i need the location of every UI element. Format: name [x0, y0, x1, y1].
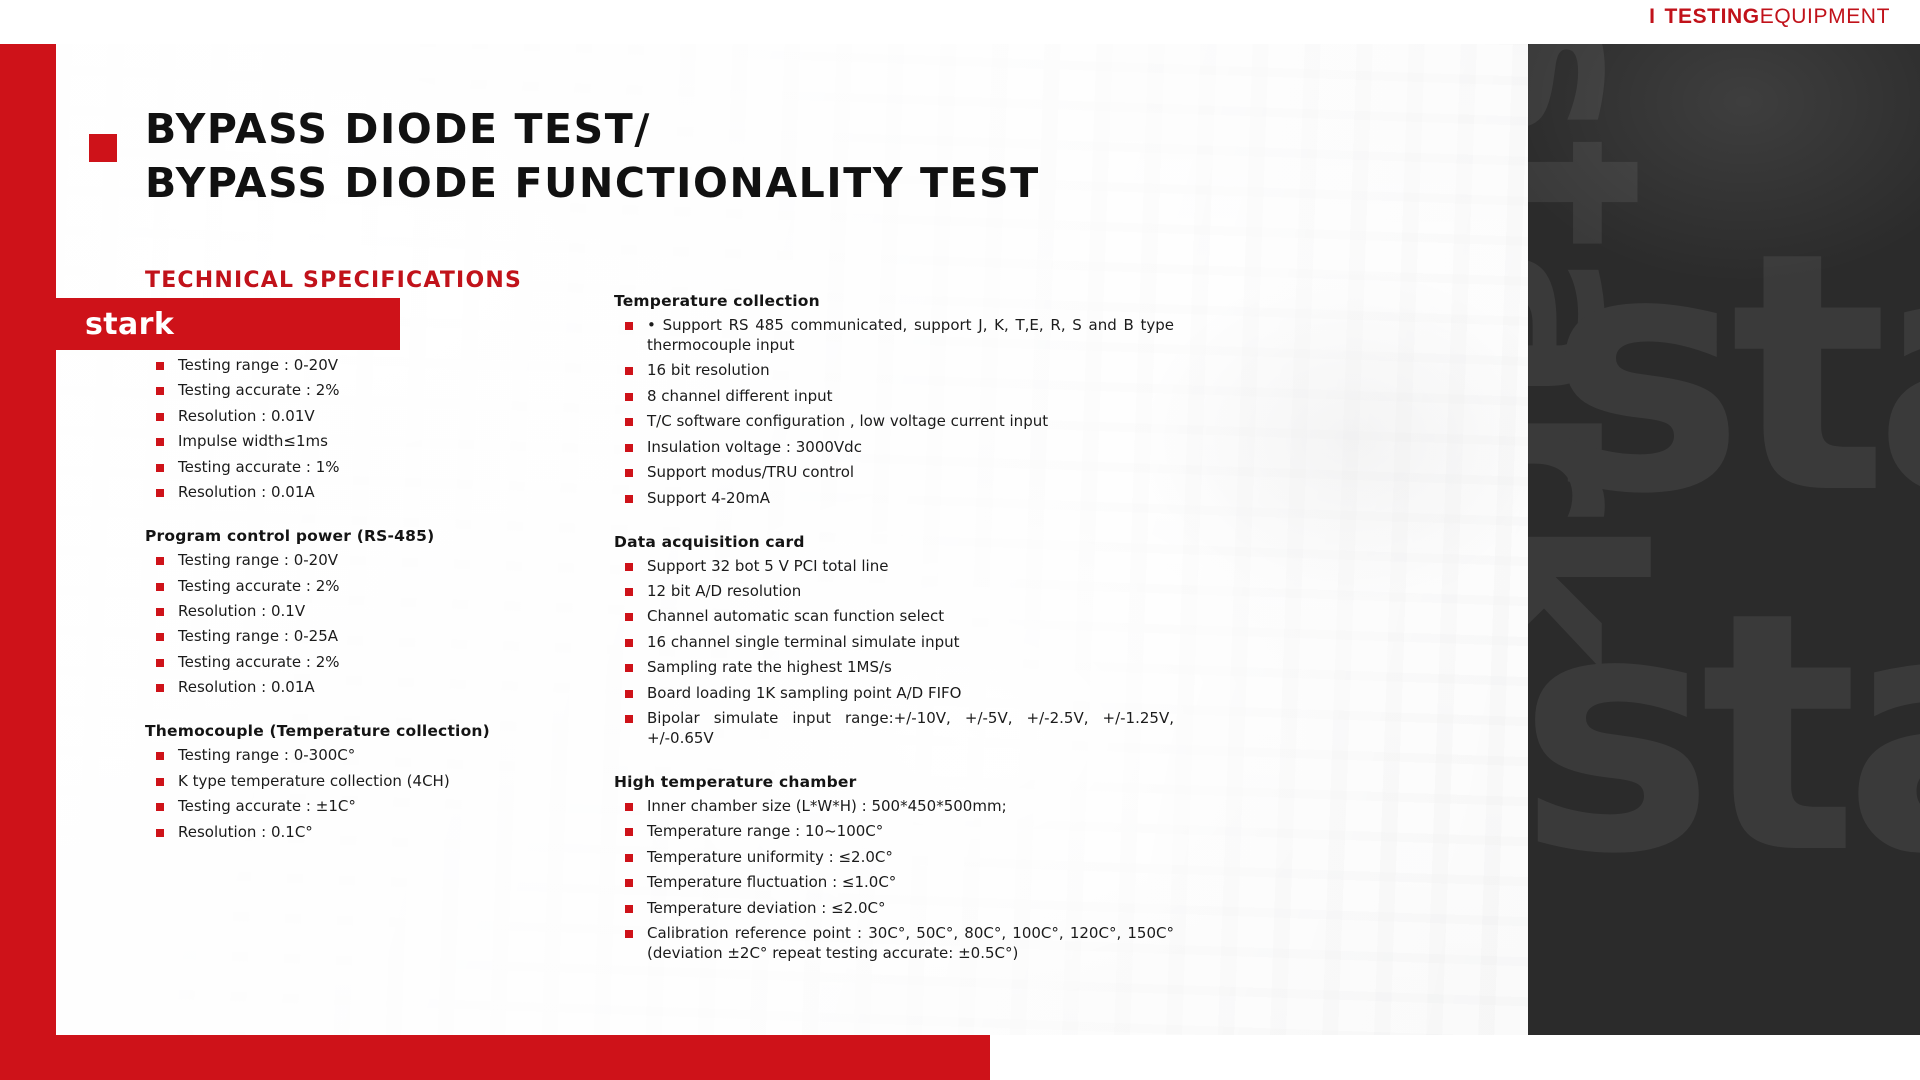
spec-list-item: Inner chamber size (L*W*H) : 500*450*500…	[614, 797, 1174, 817]
spec-group: Program control power (RS-485)Testing ra…	[145, 527, 575, 698]
spec-list-item: Testing range : 0-20V	[145, 551, 575, 571]
spec-list-item: Resolution : 0.01A	[145, 483, 575, 503]
spec-list: Testing range : 0-20VTesting accurate : …	[145, 356, 575, 503]
header-divider: I	[1649, 5, 1655, 28]
spec-list-item: Testing accurate : 2%	[145, 653, 575, 673]
spec-list-item: Testing range : 0-20V	[145, 356, 575, 376]
spec-list-item: Temperature fluctuation : ≤1.0C°	[614, 873, 1174, 893]
header-title-bold: TESTING	[1665, 5, 1760, 28]
spec-list-item: Support 32 bot 5 V PCI total line	[614, 557, 1174, 577]
spec-list-item: Testing accurate : 2%	[145, 577, 575, 597]
spec-column-right: Temperature collection• Support RS 485 c…	[614, 292, 1174, 970]
spec-list-item: 12 bit A/D resolution	[614, 582, 1174, 602]
spec-list-item: Support modus/TRU control	[614, 463, 1174, 483]
spec-list-item: Temperature uniformity : ≤2.0C°	[614, 848, 1174, 868]
header-bar: ITESTINGEQUIPMENT	[0, 0, 1920, 44]
spec-list-item: Temperature range : 10~100C°	[614, 822, 1174, 842]
spec-group: Themocouple (Temperature collection)Test…	[145, 722, 575, 842]
spec-list: Support 32 bot 5 V PCI total line12 bit …	[614, 557, 1174, 750]
content-panel: BYPASS DIODE TEST/ BYPASS DIODE FUNCTION…	[56, 42, 1528, 1035]
spec-list: Testing range : 0-20VTesting accurate : …	[145, 551, 575, 698]
spec-list-item: Bipolar simulate input range:+/-10V, +/-…	[614, 709, 1174, 749]
title-marker-square	[89, 134, 117, 162]
spec-list-item: Resolution : 0.01V	[145, 407, 575, 427]
page-title-line-1: BYPASS DIODE TEST/	[145, 102, 1325, 156]
spec-group: High temperature chamberInner chamber si…	[614, 773, 1174, 964]
spec-list-item: Testing range : 0-300C°	[145, 746, 575, 766]
spec-list-item: Sampling rate the highest 1MS/s	[614, 658, 1174, 678]
spec-list-item: 8 channel different input	[614, 387, 1174, 407]
spec-group-heading: Data acquisition card	[614, 533, 1174, 551]
spec-list: Inner chamber size (L*W*H) : 500*450*500…	[614, 797, 1174, 964]
slide-content: BYPASS DIODE TEST/ BYPASS DIODE FUNCTION…	[56, 42, 1528, 1035]
spec-list-item: K type temperature collection (4CH)	[145, 772, 575, 792]
spec-column-left: Impulse power (RS-485)Testing range : 0-…	[145, 332, 575, 848]
spec-group: Temperature collection• Support RS 485 c…	[614, 292, 1174, 509]
red-frame-bottom-decoration	[0, 1035, 990, 1080]
spec-list: Testing range : 0-300C°K type temperatur…	[145, 746, 575, 842]
spec-group-heading: Temperature collection	[614, 292, 1174, 310]
spec-list-item: Resolution : 0.1C°	[145, 823, 575, 843]
panel-shine	[1528, 42, 1920, 1035]
spec-list-item: Calibration reference point : 30C°, 50C°…	[614, 924, 1174, 964]
spec-list-item: Resolution : 0.01A	[145, 678, 575, 698]
spec-list-item: Temperature deviation : ≤2.0C°	[614, 899, 1174, 919]
spec-group-heading: Program control power (RS-485)	[145, 527, 575, 545]
spec-list-item: 16 bit resolution	[614, 361, 1174, 381]
spec-group: Impulse power (RS-485)Testing range : 0-…	[145, 332, 575, 503]
header-title-light: EQUIPMENT	[1760, 5, 1890, 28]
spec-group-heading: Themocouple (Temperature collection)	[145, 722, 575, 740]
spec-list-item: Testing accurate : 2%	[145, 381, 575, 401]
brand-panel: stark stark stark	[1528, 42, 1920, 1035]
spec-list-item: Channel automatic scan function select	[614, 607, 1174, 627]
spec-list-item: 16 channel single terminal simulate inpu…	[614, 633, 1174, 653]
spec-list: • Support RS 485 communicated, support J…	[614, 316, 1174, 509]
section-label: TECHNICAL SPECIFICATIONS	[145, 268, 522, 293]
spec-list-item: Support 4-20mA	[614, 489, 1174, 509]
page-title-line-2: BYPASS DIODE FUNCTIONALITY TEST	[145, 156, 1325, 210]
spec-group-heading: High temperature chamber	[614, 773, 1174, 791]
spec-list-item: • Support RS 485 communicated, support J…	[614, 316, 1174, 356]
brand-logo-text: stark	[85, 307, 174, 342]
page-title: BYPASS DIODE TEST/ BYPASS DIODE FUNCTION…	[145, 102, 1325, 210]
spec-list-item: Testing range : 0-25A	[145, 627, 575, 647]
spec-list-item: Resolution : 0.1V	[145, 602, 575, 622]
spec-group: Data acquisition cardSupport 32 bot 5 V …	[614, 533, 1174, 750]
spec-list-item: Impulse width≤1ms	[145, 432, 575, 452]
header-title: ITESTINGEQUIPMENT	[1649, 5, 1890, 29]
brand-logo-badge: stark	[0, 298, 400, 350]
spec-list-item: Insulation voltage : 3000Vdc	[614, 438, 1174, 458]
spec-list-item: Board loading 1K sampling point A/D FIFO	[614, 684, 1174, 704]
spec-list-item: Testing accurate : 1%	[145, 458, 575, 478]
spec-list-item: T/C software configuration , low voltage…	[614, 412, 1174, 432]
spec-list-item: Testing accurate : ±1C°	[145, 797, 575, 817]
